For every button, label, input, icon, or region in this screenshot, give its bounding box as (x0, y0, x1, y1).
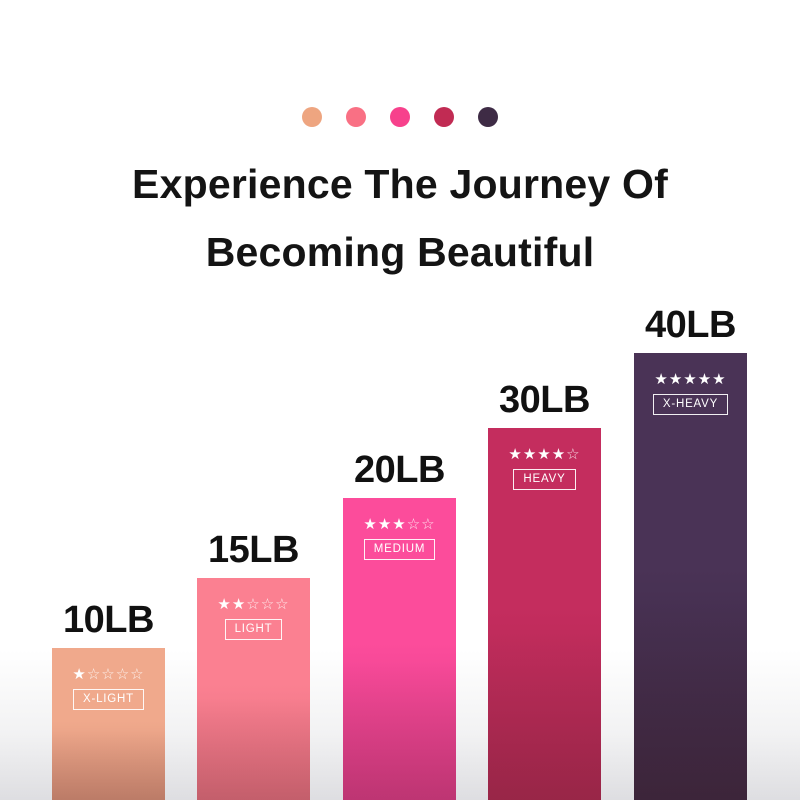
level-label: LIGHT (225, 619, 283, 640)
bar-group-light[interactable]: 15LB★★☆☆☆LIGHT (197, 518, 310, 800)
star-rating: ★★★★★ (654, 371, 726, 388)
star-empty-icon: ☆☆ (407, 516, 436, 533)
bar-medium[interactable]: ★★★☆☆MEDIUM (343, 498, 456, 800)
dot-heavy (434, 107, 454, 127)
bar-badge: ★★★★★X-HEAVY (634, 371, 747, 415)
star-filled-icon: ★★★★ (508, 446, 566, 463)
star-rating: ★★☆☆☆ (217, 596, 289, 613)
star-empty-icon: ☆ (566, 446, 580, 463)
star-empty-icon: ☆☆☆☆ (87, 666, 145, 683)
star-filled-icon: ★★★ (363, 516, 406, 533)
star-filled-icon: ★★ (217, 596, 246, 613)
star-rating: ★★★☆☆ (363, 516, 435, 533)
bar-badge: ★★★★☆HEAVY (488, 446, 601, 490)
bar-group-x-light[interactable]: 10LB★☆☆☆☆X-LIGHT (52, 588, 165, 800)
bar-weight-label: 30LB (488, 379, 601, 422)
level-label: X-HEAVY (653, 394, 728, 415)
dot-x-heavy (478, 107, 498, 127)
bar-group-x-heavy[interactable]: 40LB★★★★★X-HEAVY (634, 293, 747, 800)
bar-badge: ★★★☆☆MEDIUM (343, 516, 456, 560)
level-label: X-LIGHT (73, 689, 144, 710)
bar-x-heavy[interactable]: ★★★★★X-HEAVY (634, 353, 747, 800)
color-swatch-row (0, 107, 800, 127)
star-rating: ★☆☆☆☆ (72, 666, 144, 683)
bar-weight-label: 15LB (197, 529, 310, 572)
bar-light[interactable]: ★★☆☆☆LIGHT (197, 578, 310, 800)
star-rating: ★★★★☆ (508, 446, 580, 463)
bar-weight-label: 20LB (343, 449, 456, 492)
bar-group-medium[interactable]: 20LB★★★☆☆MEDIUM (343, 438, 456, 800)
page-title-line-2: Becoming Beautiful (0, 218, 800, 286)
dot-light (346, 107, 366, 127)
star-filled-icon: ★ (72, 666, 86, 683)
dot-x-light (302, 107, 322, 127)
bar-badge: ★★☆☆☆LIGHT (197, 596, 310, 640)
page-title-line-1: Experience The Journey Of (0, 150, 800, 218)
bar-heavy[interactable]: ★★★★☆HEAVY (488, 428, 601, 800)
bar-weight-label: 40LB (634, 304, 747, 347)
bar-x-light[interactable]: ★☆☆☆☆X-LIGHT (52, 648, 165, 800)
bar-badge: ★☆☆☆☆X-LIGHT (52, 666, 165, 710)
page-title: Experience The Journey Of Becoming Beaut… (0, 150, 800, 286)
bar-group-heavy[interactable]: 30LB★★★★☆HEAVY (488, 368, 601, 800)
level-label: HEAVY (513, 469, 575, 490)
dot-medium (390, 107, 410, 127)
star-filled-icon: ★★★★★ (654, 371, 726, 388)
bar-weight-label: 10LB (52, 599, 165, 642)
level-label: MEDIUM (364, 539, 435, 560)
star-empty-icon: ☆☆☆ (246, 596, 289, 613)
